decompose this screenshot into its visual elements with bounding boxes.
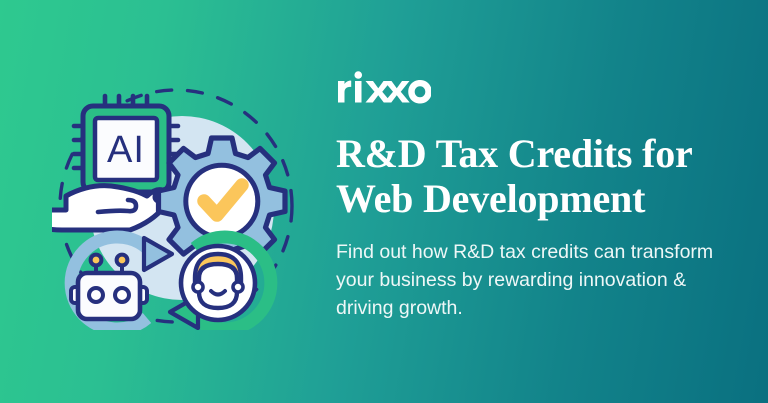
ai-chip-label: AI bbox=[107, 129, 145, 171]
page-title: R&D Tax Credits for Web Development bbox=[336, 132, 726, 222]
hero-illustration: AI bbox=[52, 82, 300, 330]
robot-eye-left bbox=[89, 288, 103, 302]
robot-antenna-left bbox=[91, 255, 102, 266]
robot-antenna-right bbox=[117, 255, 128, 266]
content-column: R&D Tax Credits for Web Development Find… bbox=[336, 70, 736, 322]
rixxo-logo[interactable] bbox=[336, 70, 736, 110]
marketing-banner: AI bbox=[0, 0, 768, 403]
page-subtitle: Find out how R&D tax credits can transfo… bbox=[336, 238, 726, 323]
robot-eye-right bbox=[115, 288, 129, 302]
rixxo-logo-mark bbox=[336, 70, 431, 104]
